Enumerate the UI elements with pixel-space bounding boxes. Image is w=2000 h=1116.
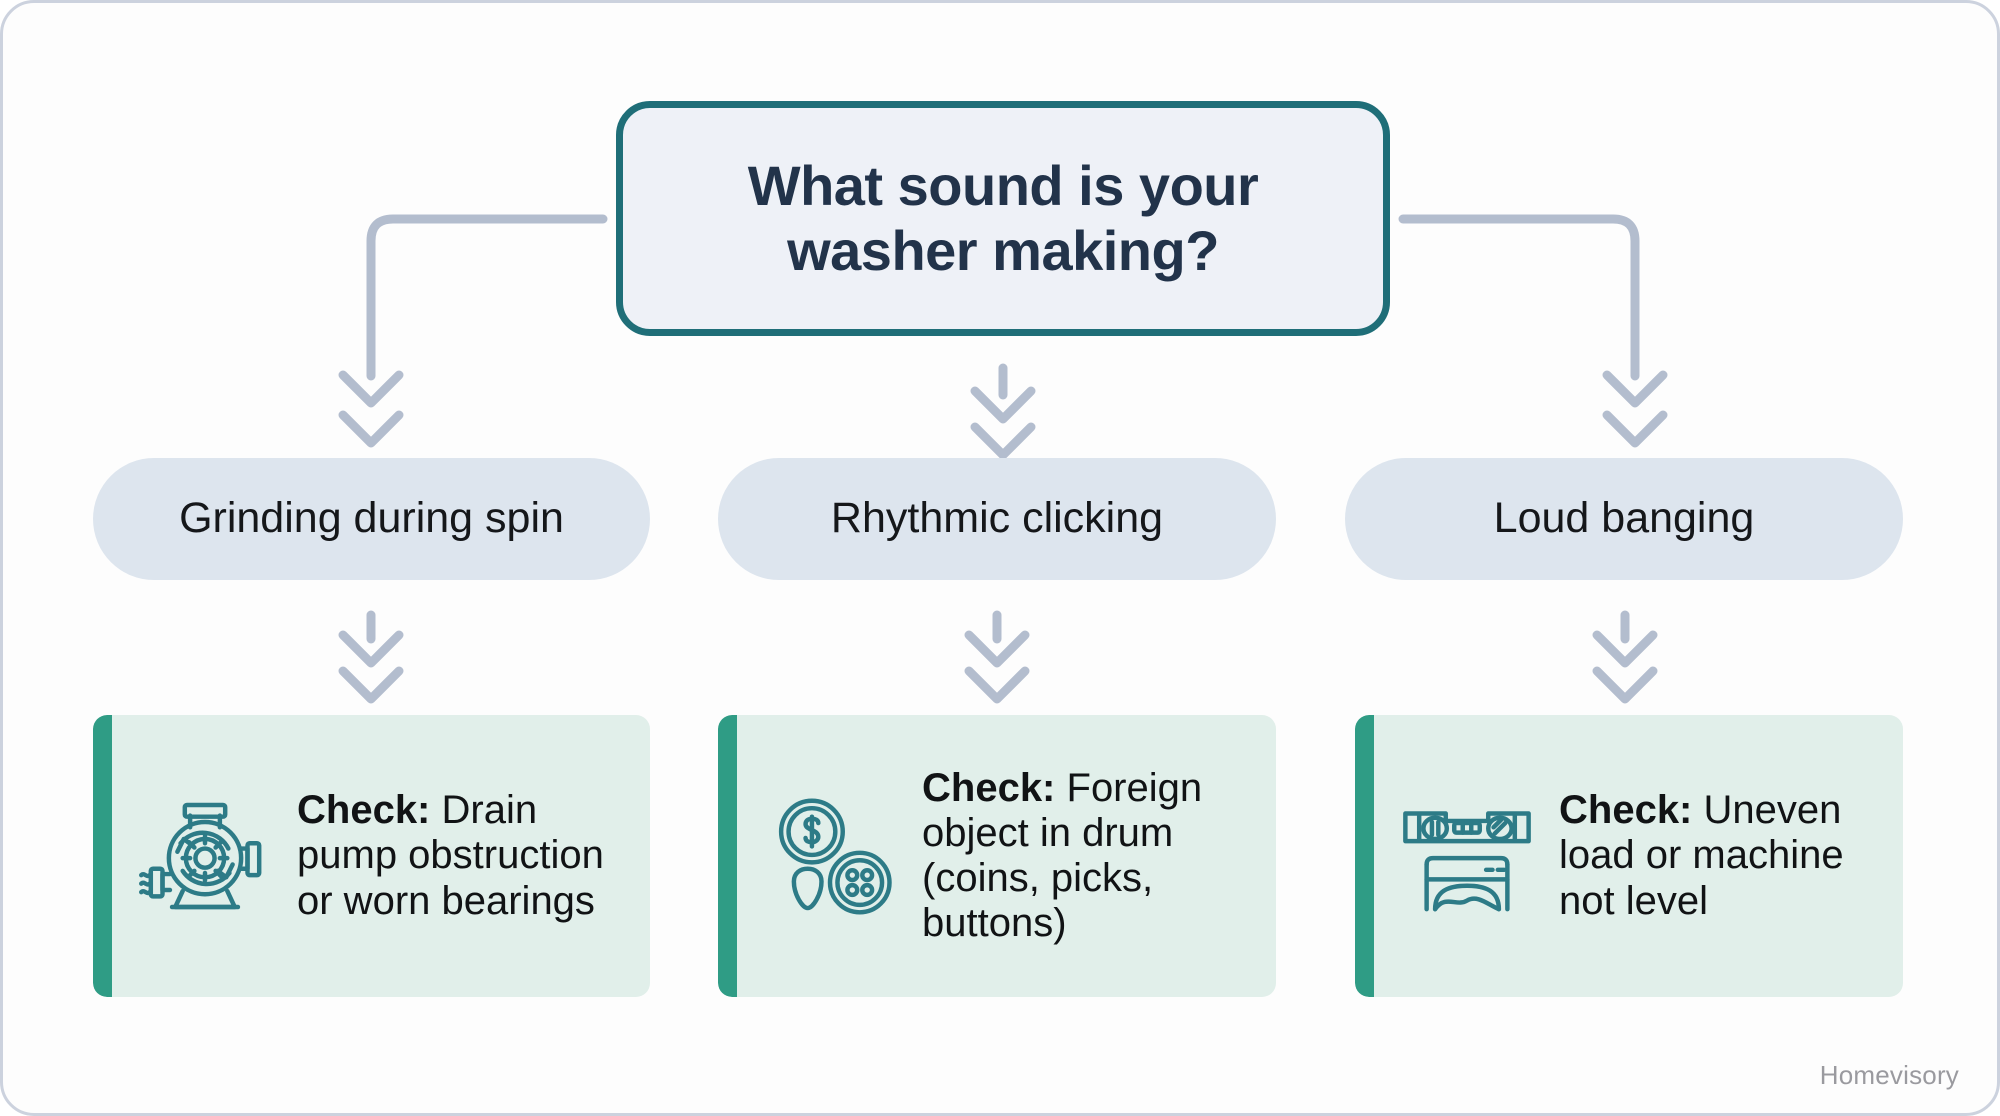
arrowhead-right-a <box>1607 375 1663 403</box>
card-check-prefix: Check: <box>297 788 430 832</box>
card-accent-bar <box>718 715 737 997</box>
arrowhead-card-center-b <box>969 671 1025 699</box>
answer-card-clicking: Check: Foreign object in drum (coins, pi… <box>718 715 1276 997</box>
branch-pill-clicking[interactable]: Rhythmic clicking <box>718 458 1276 580</box>
branch-pill-label: Grinding during spin <box>155 494 588 543</box>
branch-pill-label: Rhythmic clicking <box>807 494 1187 543</box>
arrowhead-card-right-b <box>1597 671 1653 699</box>
arrowhead-left-a <box>343 375 399 403</box>
branch-pill-banging[interactable]: Loud banging <box>1345 458 1903 580</box>
card-check-text: Check: Drain pump obstruction or worn be… <box>273 788 650 924</box>
spirit-level-washer-icon <box>1399 788 1535 924</box>
infographic-canvas: What sound is your washer making? Grindi… <box>0 0 2000 1116</box>
arrowhead-right-b <box>1607 415 1663 443</box>
arrowhead-left-b <box>343 415 399 443</box>
arrowhead-card-right-a <box>1597 635 1653 663</box>
card-check-prefix: Check: <box>922 766 1055 810</box>
arrowhead-card-left-a <box>343 635 399 663</box>
card-check-text: Check: Foreign object in drum (coins, pi… <box>898 766 1276 947</box>
watermark-label: Homevisory <box>1820 1060 1959 1091</box>
answer-card-grinding: Check: Drain pump obstruction or worn be… <box>93 715 650 997</box>
branch-pill-label: Loud banging <box>1470 494 1779 543</box>
arrowhead-card-center-a <box>969 635 1025 663</box>
connector-line-right <box>1403 219 1635 376</box>
arrowhead-card-left-b <box>343 671 399 699</box>
answer-card-banging: Check: Uneven load or machine not level <box>1355 715 1903 997</box>
card-accent-bar <box>1355 715 1374 997</box>
card-check-text: Check: Uneven load or machine not level <box>1535 788 1903 924</box>
coin-pick-button-icon <box>762 788 898 924</box>
branch-pill-grinding[interactable]: Grinding during spin <box>93 458 650 580</box>
water-pump-icon <box>137 788 273 924</box>
card-check-prefix: Check: <box>1559 788 1692 832</box>
card-accent-bar <box>93 715 112 997</box>
arrowhead-center-b <box>975 427 1031 455</box>
root-question-box: What sound is your washer making? <box>616 101 1390 336</box>
root-question-text: What sound is your washer making? <box>623 154 1383 284</box>
arrowhead-center-a <box>975 391 1031 419</box>
connector-line-left <box>371 219 603 376</box>
